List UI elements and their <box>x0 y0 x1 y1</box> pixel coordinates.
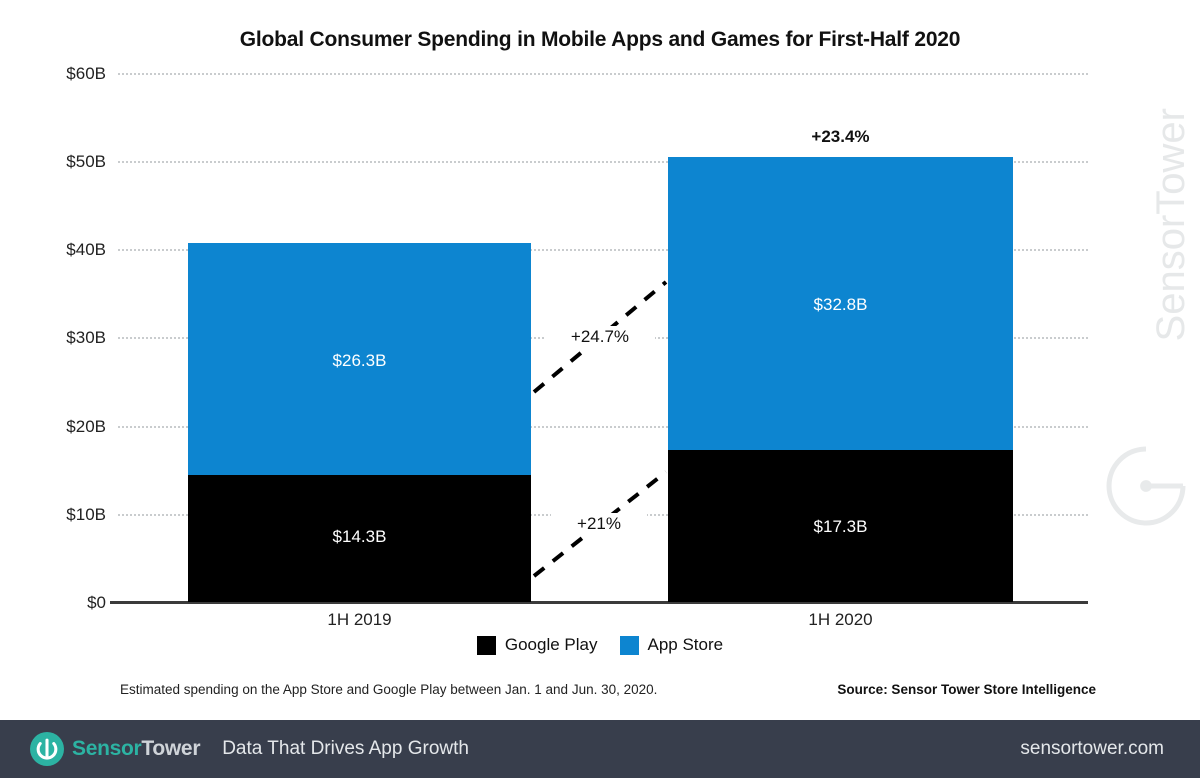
footer-brand: SensorTower <box>72 737 200 761</box>
footer-bar: SensorTower Data That Drives App Growth … <box>0 720 1200 778</box>
chart-source: Source: Sensor Tower Store Intelligence <box>837 682 1096 697</box>
sensortower-watermark: SensorTower <box>1108 108 1194 528</box>
chart-footnote: Estimated spending on the App Store and … <box>120 682 657 697</box>
y-axis-tick-label: $30B <box>16 328 106 348</box>
legend-label-google-play: Google Play <box>505 635 598 655</box>
y-axis-tick-label: $10B <box>16 505 106 525</box>
footer-brand-second: Tower <box>141 737 200 760</box>
legend-item-app-store[interactable]: App Store <box>620 635 724 655</box>
legend-swatch-google-play <box>477 636 496 655</box>
bar-segment-app-store[interactable]: $32.8B <box>668 157 1013 450</box>
footer-tagline: Data That Drives App Growth <box>222 738 469 760</box>
chart-legend: Google Play App Store <box>0 635 1200 655</box>
y-axis-tick-label: $40B <box>16 240 106 260</box>
x-axis-label-1h-2019: 1H 2019 <box>188 610 531 630</box>
bar-1h-2020[interactable]: $32.8B $17.3B <box>668 157 1013 602</box>
legend-item-google-play[interactable]: Google Play <box>477 635 598 655</box>
annotation-google-play-growth: +21% <box>551 513 647 535</box>
x-axis-label-1h-2020: 1H 2020 <box>668 610 1013 630</box>
bar-segment-google-play[interactable]: $17.3B <box>668 450 1013 602</box>
footer-brand-first: Sensor <box>72 737 141 760</box>
sensortower-logo-icon <box>30 732 64 766</box>
bar-segment-app-store[interactable]: $26.3B <box>188 243 531 475</box>
bar-segment-google-play[interactable]: $14.3B <box>188 475 531 602</box>
y-axis-tick-label: $20B <box>16 417 106 437</box>
gridline <box>118 73 1088 75</box>
annotation-total-growth: +23.4% <box>668 127 1013 147</box>
chart-title: Global Consumer Spending in Mobile Apps … <box>0 28 1200 52</box>
y-axis-tick-label: $50B <box>16 152 106 172</box>
watermark-brand-first: Sensor <box>1149 215 1193 342</box>
legend-swatch-app-store <box>620 636 639 655</box>
bar-segment-label-app-store: $26.3B <box>188 351 531 371</box>
bar-segment-label-google-play: $17.3B <box>668 517 1013 537</box>
y-axis-tick-label: $0 <box>16 593 106 613</box>
bar-segment-label-app-store: $32.8B <box>668 295 1013 315</box>
bar-1h-2019[interactable]: $26.3B $14.3B <box>188 243 531 602</box>
y-axis-tick-label: $60B <box>16 64 106 84</box>
legend-label-app-store: App Store <box>648 635 724 655</box>
watermark-brand-second: Tower <box>1149 108 1193 215</box>
watermark-brand-text: SensorTower <box>1149 108 1194 341</box>
annotation-app-store-growth: +24.7% <box>545 326 655 348</box>
sensortower-logo-watermark-icon <box>1104 444 1188 528</box>
footer-url[interactable]: sensortower.com <box>1020 738 1164 760</box>
bar-segment-label-google-play: $14.3B <box>188 527 531 547</box>
